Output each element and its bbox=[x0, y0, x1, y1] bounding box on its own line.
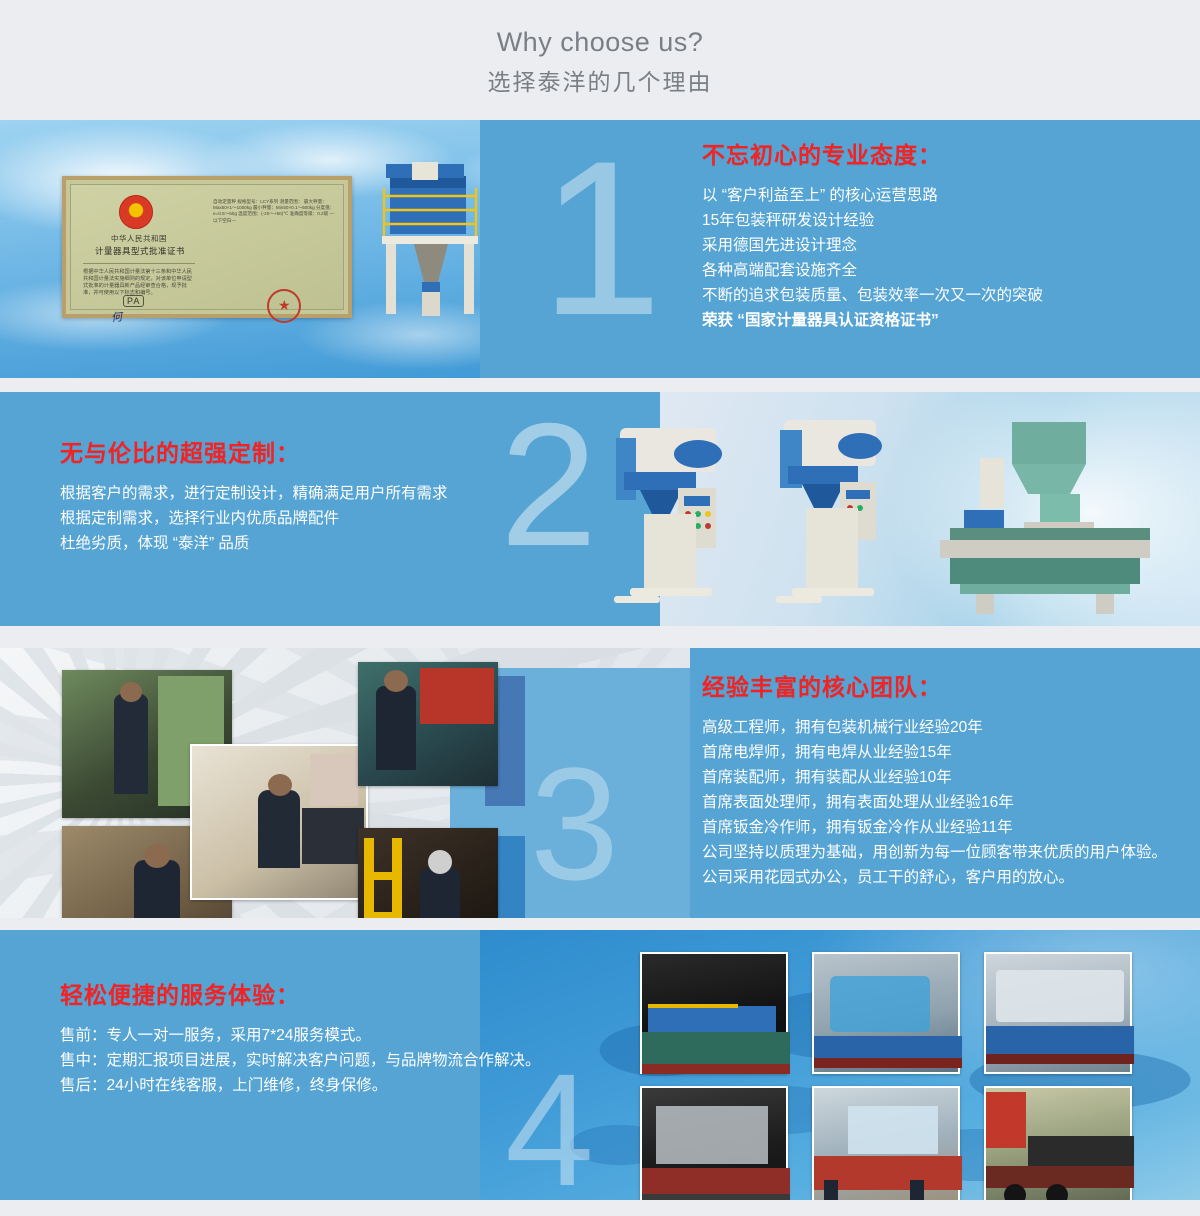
packing-machine-photo-3 bbox=[760, 408, 895, 620]
section-3-line-5: 首席钣金冷作师，拥有钣金冷作从业经验11年 bbox=[702, 815, 1192, 840]
section-3: 3 bbox=[0, 648, 1200, 918]
section-1-line-5: 不断的追求包装质量、包装效率一次又一次的突破 bbox=[702, 283, 1182, 308]
section-2-heading: 无与伦比的超强定制： bbox=[60, 440, 620, 468]
why-choose-us-page: Why choose us? 选择泰洋的几个理由 1 中华人民共和国 计量器具型… bbox=[0, 0, 1200, 1216]
section-3-line-7: 公司采用花园式办公，员工干的舒心，客户用的放心。 bbox=[702, 865, 1192, 890]
section-4-line-3: 售后：24小时在线客服，上门维修，终身保修。 bbox=[60, 1073, 600, 1098]
certificate-body: 根据中华人民共和国计量法第十三条和中华人民共和国计量法实施细则的规定，对该单位申… bbox=[83, 269, 195, 297]
shipping-photo-6 bbox=[984, 1086, 1132, 1200]
page-title-en: Why choose us? bbox=[0, 0, 1200, 58]
section-3-text: 经验丰富的核心团队： 高级工程师，拥有包装机械行业经验20年 首席电焊师，拥有电… bbox=[702, 674, 1192, 890]
section-2-text: 无与伦比的超强定制： 根据客户的需求，进行定制设计，精确满足用户所有需求 根据定… bbox=[60, 440, 620, 556]
section-1-line-3: 采用德国先进设计理念 bbox=[702, 233, 1182, 258]
certificate-image: 中华人民共和国 计量器具型式批准证书 根据中华人民共和国计量法第十三条和中华人民… bbox=[62, 176, 352, 318]
national-emblem-icon bbox=[119, 195, 153, 229]
page-title-cn: 选择泰洋的几个理由 bbox=[0, 70, 1200, 95]
section-2-line-3: 杜绝劣质，体现 “泰洋” 品质 bbox=[60, 531, 620, 556]
certificate-country: 中华人民共和国 bbox=[89, 233, 189, 244]
packing-machine-photo-1 bbox=[368, 158, 492, 330]
team-photo-4 bbox=[358, 662, 498, 786]
section-3-line-2: 首席电焊师，拥有电焊从业经验15年 bbox=[702, 740, 1192, 765]
section-3-heading: 经验丰富的核心团队： bbox=[702, 674, 1192, 702]
section-2-line-1: 根据客户的需求，进行定制设计，精确满足用户所有需求 bbox=[60, 481, 620, 506]
section-3-line-4: 首席表面处理师，拥有表面处理从业经验16年 bbox=[702, 790, 1192, 815]
shipping-photo-4 bbox=[640, 1086, 788, 1200]
shipping-photo-1 bbox=[640, 952, 788, 1074]
team-photo-3 bbox=[190, 744, 368, 900]
section-3-line-6: 公司坚持以质理为基础，用创新为每一位顾客带来优质的用户体验。 bbox=[702, 840, 1192, 865]
section-1-heading: 不忘初心的专业态度： bbox=[702, 142, 1182, 170]
certificate-mark: PA bbox=[123, 295, 144, 307]
section-4-line-1: 售前：专人一对一服务，采用7*24服务模式。 bbox=[60, 1023, 600, 1048]
section-3-line-1: 高级工程师，拥有包装机械行业经验20年 bbox=[702, 715, 1192, 740]
shipping-photo-3 bbox=[984, 952, 1132, 1074]
page-header: Why choose us? 选择泰洋的几个理由 bbox=[0, 0, 1200, 120]
certificate-rule bbox=[83, 263, 195, 264]
section-1-line-2: 15年包装秤研发设计经验 bbox=[702, 208, 1182, 233]
watermark-number-3: 3 bbox=[530, 744, 619, 904]
certificate-stamp-icon bbox=[267, 289, 301, 323]
section-1-line-1: 以 “客户利益至上” 的核心运营思路 bbox=[702, 183, 1182, 208]
packing-machine-photo-4 bbox=[920, 418, 1170, 618]
packing-machine-photo-2 bbox=[600, 410, 735, 620]
section-2: 2 bbox=[0, 392, 1200, 626]
certificate-spec: 自动定量秤 规格型号：LCY系列 测量范围： 最大秤量：Max50×1～1000… bbox=[213, 199, 338, 224]
section-1-line-4: 各种高端配套设施齐全 bbox=[702, 258, 1182, 283]
certificate-title: 计量器具型式批准证书 bbox=[81, 245, 199, 257]
watermark-number-1: 1 bbox=[540, 128, 662, 348]
shipping-photo-5 bbox=[812, 1086, 960, 1200]
section-4-heading: 轻松便捷的服务体验： bbox=[60, 982, 600, 1010]
section-4-line-2: 售中：定期汇报项目进展，实时解决客户问题，与品牌物流合作解决。 bbox=[60, 1048, 600, 1073]
section-1-text: 不忘初心的专业态度： 以 “客户利益至上” 的核心运营思路 15年包装秤研发设计… bbox=[702, 142, 1182, 333]
certificate-signature: 何 bbox=[110, 308, 123, 325]
section-2-line-2: 根据定制需求，选择行业内优质品牌配件 bbox=[60, 506, 620, 531]
section-3-line-3: 首席装配师，拥有装配从业经验10年 bbox=[702, 765, 1192, 790]
shipping-photo-2 bbox=[812, 952, 960, 1074]
team-photo-5 bbox=[358, 828, 498, 918]
section-4: 4 bbox=[0, 930, 1200, 1200]
section-1-line-6: 荣获 “国家计量器具认证资格证书” bbox=[702, 308, 1182, 333]
section-4-text: 轻松便捷的服务体验： 售前：专人一对一服务，采用7*24服务模式。 售中：定期汇… bbox=[60, 982, 600, 1098]
section-1: 1 中华人民共和国 计量器具型式批准证书 根据中华人民共和国计量法第十三条和中华… bbox=[0, 120, 1200, 378]
